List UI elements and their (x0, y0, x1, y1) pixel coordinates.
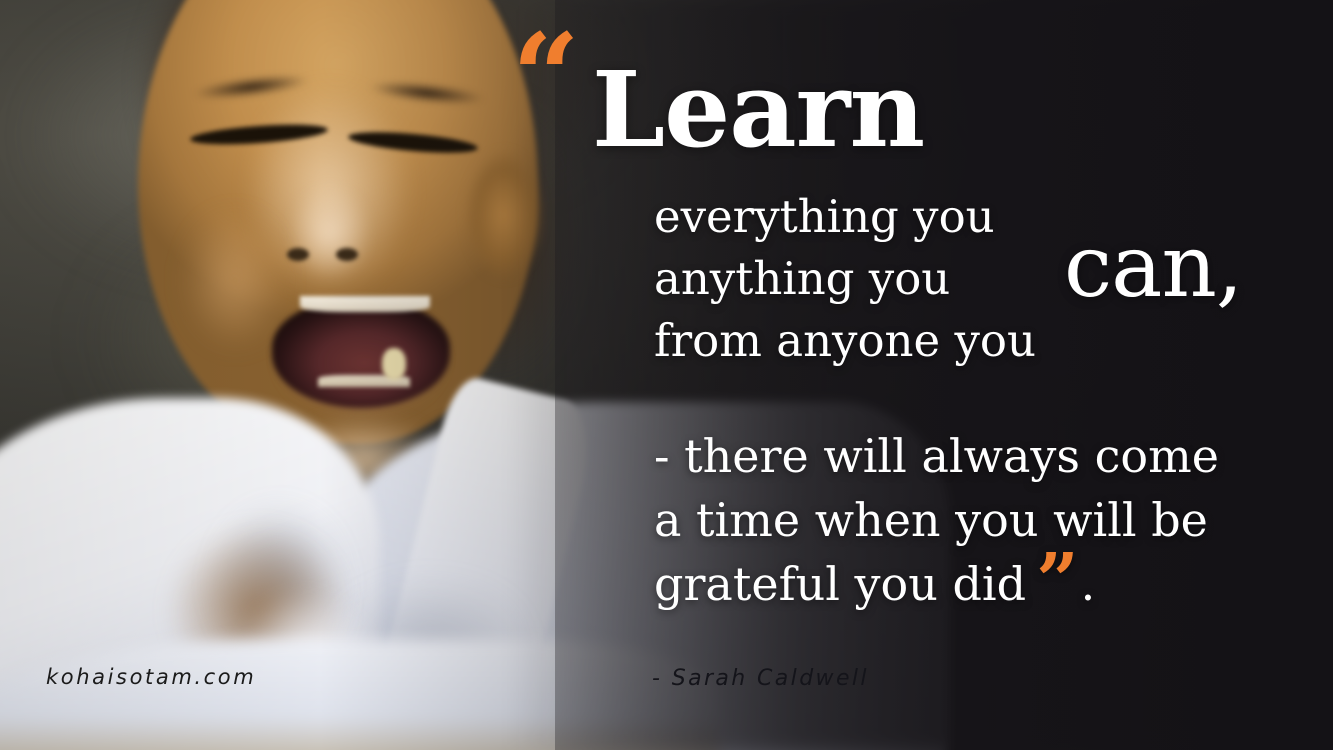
quote-headline-word: Learn (592, 58, 924, 162)
quote-poster: “ Learn everything you anything you from… (0, 0, 1333, 750)
quote-emphasis-word: can, (1064, 224, 1242, 310)
quote-line-6-text: grateful you did (654, 557, 1026, 611)
quote-line-4: - there will always come (654, 424, 1219, 488)
quote-middle-lines: everything you anything you from anyone … (654, 186, 1036, 372)
quote-line-3: from anyone you (654, 310, 1036, 372)
quote-block: “ Learn everything you anything you from… (0, 0, 1333, 750)
open-quote-mark: “ (512, 18, 578, 136)
quote-final-period: . (1081, 557, 1096, 611)
quote-tail-lines: - there will always come a time when you… (654, 424, 1219, 616)
quote-line-1: everything you (654, 186, 1036, 248)
quote-attribution: - Sarah Caldwell (652, 666, 869, 691)
quote-line-5: a time when you will be (654, 488, 1219, 552)
site-watermark: kohaisotam.com (46, 665, 256, 689)
quote-line-6: grateful you did”. (654, 552, 1219, 616)
quote-line-2: anything you (654, 248, 1036, 310)
